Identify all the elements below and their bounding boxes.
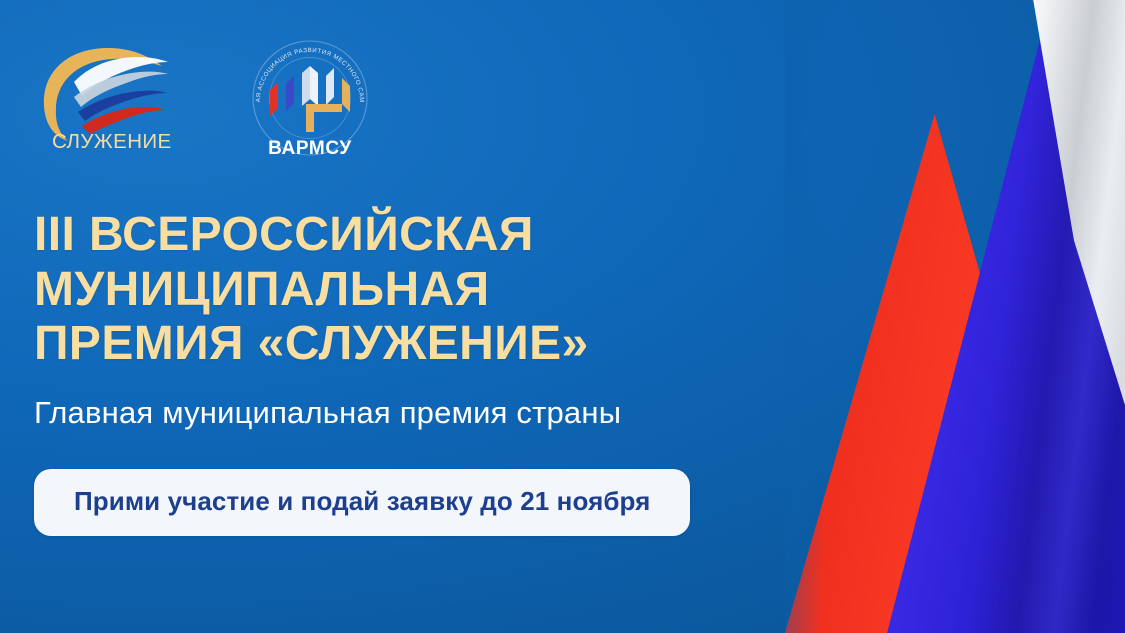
russian-flag	[785, 0, 1125, 633]
varmsu-wordmark: ВАРМСУ	[268, 138, 352, 159]
sluzhenie-logo[interactable]: СЛУЖЕНИЕ	[34, 34, 184, 154]
varmsu-logo[interactable]: ВСЕРОССИЙСКАЯ АССОЦИАЦИЯ РАЗВИТИЯ МЕСТНО…	[246, 32, 374, 164]
promo-banner: СЛУЖЕНИЕ ВСЕРОССИЙСКАЯ АССОЦИАЦИЯ РАЗВИТ…	[0, 0, 1125, 633]
apply-cta-button[interactable]: Прими участие и подай заявку до 21 ноябр…	[34, 469, 690, 536]
sluzhenie-wordmark: СЛУЖЕНИЕ	[52, 130, 172, 153]
logo-row: СЛУЖЕНИЕ ВСЕРОССИЙСКАЯ АССОЦИАЦИЯ РАЗВИТ…	[34, 34, 374, 164]
subtitle: Главная муниципальная премия страны	[34, 394, 794, 431]
varmsu-emblem	[270, 66, 350, 132]
page-title: III ВСЕРОССИЙСКАЯ МУНИЦИПАЛЬНАЯ ПРЕМИЯ «…	[34, 208, 794, 372]
content-block: III ВСЕРОССИЙСКАЯ МУНИЦИПАЛЬНАЯ ПРЕМИЯ «…	[34, 208, 794, 536]
